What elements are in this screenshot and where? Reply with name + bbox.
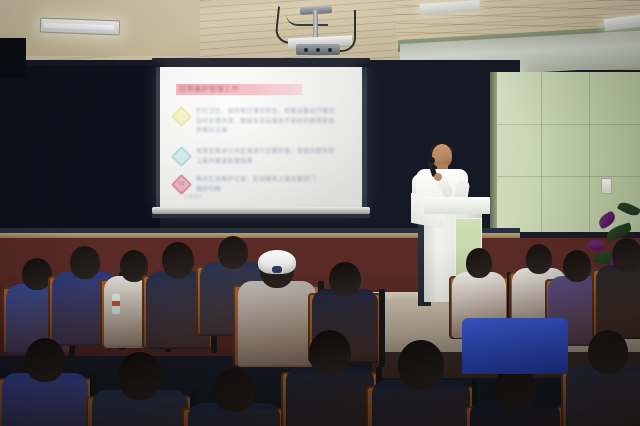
audience-head — [398, 340, 444, 390]
audience-torso — [566, 365, 640, 426]
lecture-hall-photo: 日常维护管理工作 打扫卫生、保持每日清洁状态，检查设备运行情况 及时反馈异常，确… — [0, 0, 640, 426]
audience-head — [162, 242, 194, 278]
audience-head — [25, 338, 65, 382]
screen-bottom-bar — [152, 207, 370, 214]
audience-torso — [596, 265, 640, 339]
audience-member — [188, 368, 280, 426]
projector-icon — [296, 44, 340, 55]
blue-cloth-on-chair — [462, 318, 568, 374]
wall-corner-block — [0, 38, 26, 78]
speaker-hand — [434, 173, 442, 181]
audience-member — [470, 366, 560, 426]
audience-head — [213, 368, 255, 412]
projector-cable-top — [286, 14, 328, 26]
cap-back-strap — [272, 266, 282, 273]
audience-head — [588, 330, 628, 374]
light-switch[interactable] — [601, 178, 612, 194]
audience-head — [70, 246, 100, 279]
podium-top — [424, 197, 490, 214]
audience-head — [309, 330, 351, 376]
audience-head — [612, 238, 640, 272]
projection-screen: 日常维护管理工作 打扫卫生、保持每日清洁状态，检查设备运行情况 及时反馈异常，确… — [160, 67, 362, 208]
audience-member — [286, 330, 374, 426]
audience-head — [329, 262, 361, 296]
microphone-head — [428, 157, 435, 164]
audience-head — [563, 250, 591, 282]
fluorescent-light-icon — [40, 18, 120, 36]
audience-member — [2, 338, 88, 426]
audience-member — [372, 340, 470, 426]
screen-bottom-shadow — [152, 214, 370, 218]
audience-member — [92, 352, 188, 426]
screen-housing — [152, 58, 370, 67]
audience-head — [466, 248, 492, 278]
water-bottle — [112, 294, 120, 314]
screen-glare — [160, 67, 362, 208]
audience-member — [566, 330, 640, 426]
audience-head — [118, 352, 162, 400]
